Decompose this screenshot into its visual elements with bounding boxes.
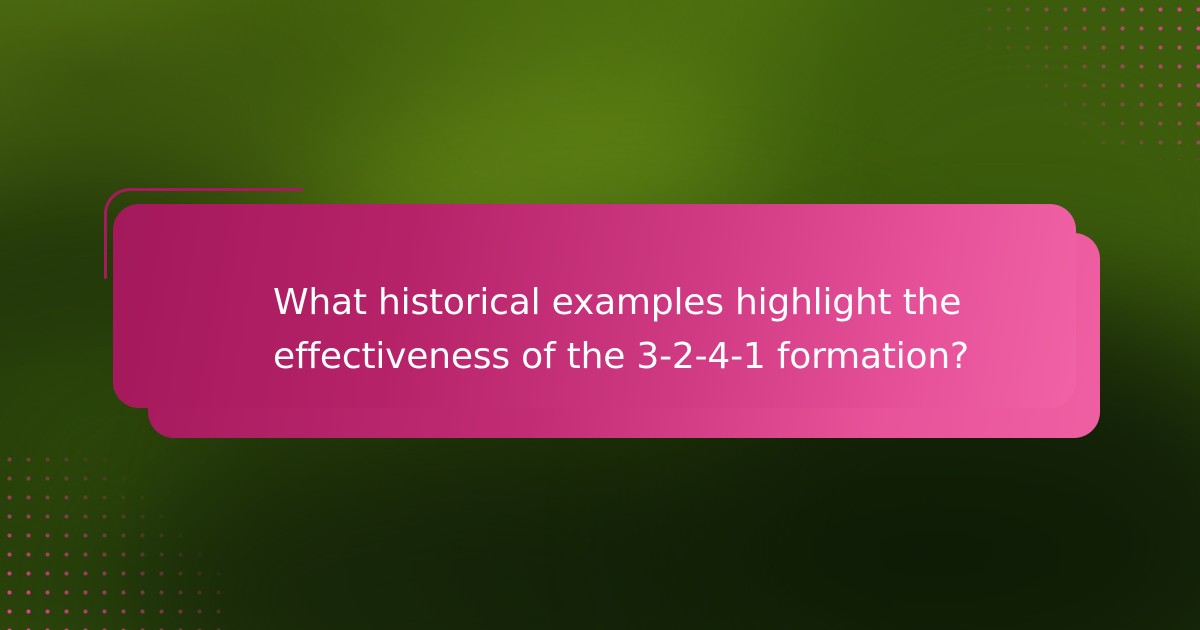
dot-grid-pattern-bottom-left — [0, 450, 230, 630]
dot-grid-pattern-top-right — [980, 0, 1200, 160]
social-card-canvas: What historical examples highlight the e… — [0, 0, 1200, 630]
page-title: What historical examples highlight the e… — [273, 276, 973, 384]
